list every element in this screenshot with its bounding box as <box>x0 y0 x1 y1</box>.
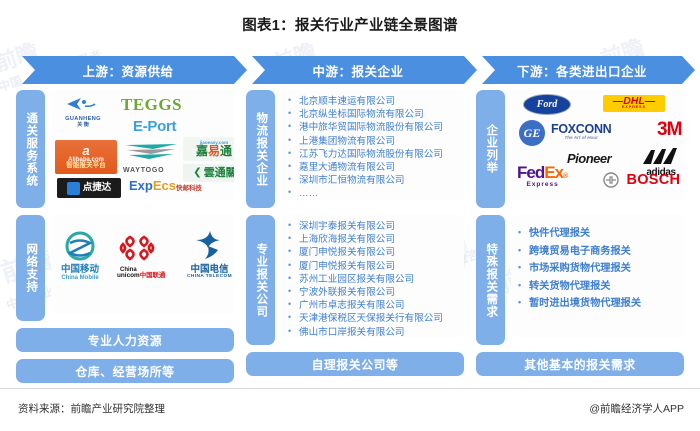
list-item: 佛山市口岸报关有限公司 <box>287 326 462 337</box>
logo-china-mobile: 中国移动 China Mobile <box>61 231 99 281</box>
list-item: 转关货物代理报关 <box>517 278 682 296</box>
list-item: 宁波外联报关有限公司 <box>287 286 462 299</box>
list-item: 厦门申悦报关有限公司 <box>287 246 462 259</box>
downstream-tab-special-needs[interactable]: 特殊报关需求 <box>476 215 505 345</box>
logo-bosch: BOSCH <box>603 172 680 188</box>
midstream-column: 物流报关企业 北京顺丰速运有限公司 北京纵坐标国际物流有限公司 港中旅华贸国际物… <box>246 90 464 383</box>
logo-grid: GUANHENG 关 衡 TEGGS E-Port a Alibaba.com … <box>51 90 234 200</box>
logo-guanheng: GUANHENG 关 衡 <box>63 95 103 128</box>
downstream-bar-other-needs[interactable]: 其他基本的报关需求 <box>476 352 684 376</box>
source-note: 资料来源：前瞻产业研究院整理 <box>18 401 165 416</box>
chain-stage-upstream[interactable]: 上游：资源供给 <box>22 56 234 84</box>
logistics-company-list: 北京顺丰速运有限公司 北京纵坐标国际物流有限公司 港中旅华贸国际物流股份有限公司… <box>281 90 464 200</box>
list-item: 深圳宇泰报关有限公司 <box>287 220 462 233</box>
list-item: 江苏飞力达国际物流股份有限公司 <box>287 148 462 161</box>
midstream-list-area-professional: 深圳宇泰报关有限公司 上海欣海报关有限公司 厦门申悦报关有限公司 厦门申悦报关有… <box>281 215 464 337</box>
list-item: 天津港保税区天保报关行有限公司 <box>287 312 462 325</box>
logo-pioneer: Pioneer <box>567 152 611 165</box>
downstream-logo-area: Ford —DHL— EXPRESS GE FOXCONN The Art of… <box>511 90 684 200</box>
upstream-panel-network-support: 网络支持 中国移动 China Mobile <box>16 215 234 321</box>
adidas-stripes-icon <box>639 148 683 164</box>
list-item: 快件代理报关 <box>517 225 682 243</box>
downstream-panel-special-needs: 特殊报关需求 快件代理报关 跨境贸易电子商务报关 市场采购货物代理报关 转关货物… <box>476 215 684 345</box>
app-watermark: @前瞻经济学人APP <box>589 401 684 416</box>
logo-grid: Ford —DHL— EXPRESS GE FOXCONN The Art of… <box>511 90 684 200</box>
midstream-list-area-logistics: 北京顺丰速运有限公司 北京纵坐标国际物流有限公司 港中旅华贸国际物流股份有限公司… <box>281 90 464 200</box>
value-chain-header: 上游：资源供给 中游：报关企业 下游：各类进出口企业 <box>0 56 700 84</box>
special-needs-list: 快件代理报关 跨境贸易电子商务报关 市场采购货物代理报关 转关货物代理报关 暂时… <box>511 215 684 313</box>
downstream-column: 企业列举 Ford —DHL— EXPRESS GE FOXCONN The A… <box>476 90 684 383</box>
logo-grid: 中国移动 China Mobile China <box>51 215 234 313</box>
logo-dianjieda: 点捷达 <box>57 178 121 198</box>
logo-eport: E-Port <box>133 119 176 134</box>
list-item: 港中旅华贸国际物流股份有限公司 <box>287 121 462 134</box>
downstream-panel-enterprises: 企业列举 Ford —DHL— EXPRESS GE FOXCONN The A… <box>476 90 684 208</box>
logo-dhl: —DHL— EXPRESS <box>603 95 665 112</box>
list-item: 厦门申悦报关有限公司 <box>287 260 462 273</box>
logo-waytogo: WAYTOGO <box>123 142 183 174</box>
downstream-tab-enterprises[interactable]: 企业列举 <box>476 90 505 208</box>
logo-jiayitong: jiaoeasy.com 嘉易通 <box>183 137 234 161</box>
midstream-tab-logistics[interactable]: 物流报关企业 <box>246 90 275 208</box>
list-item: 广州市卓志报关有限公司 <box>287 299 462 312</box>
midstream-bar-self-managed[interactable]: 自理报关公司等 <box>246 352 464 376</box>
list-item: 嘉里大通物流有限公司 <box>287 161 462 174</box>
footer-divider <box>0 388 700 389</box>
logo-3m: 3M <box>657 120 681 139</box>
list-item: …… <box>287 187 462 200</box>
logo-expecs: ExpEcs快邮科技 <box>129 178 202 194</box>
logo-foxconn: FOXCONN The Art of Hour <box>551 123 611 140</box>
list-item: 苏州工业园区报关有限公司 <box>287 273 462 286</box>
upstream-logo-area-network-support: 中国移动 China Mobile China <box>51 215 234 313</box>
midstream-panel-professional: 专业报关公司 深圳宇泰报关有限公司 上海欣海报关有限公司 厦门申悦报关有限公司 … <box>246 215 464 345</box>
chain-stage-downstream[interactable]: 下游：各类进出口企业 <box>482 56 682 84</box>
china-unicom-mark-icon <box>117 233 157 263</box>
list-item: 跨境贸易电子商务报关 <box>517 243 682 261</box>
midstream-panel-logistics: 物流报关企业 北京顺丰速运有限公司 北京纵坐标国际物流有限公司 港中旅华贸国际物… <box>246 90 464 208</box>
logo-teggs: TEGGS <box>121 96 182 113</box>
logo-china-unicom: China unicom中国联通 <box>117 233 165 279</box>
list-item: 上海欣海报关有限公司 <box>287 233 462 246</box>
upstream-column: 通关服务系统 GUANHENG 关 衡 TEGGS E-Port <box>16 90 234 390</box>
guanheng-mark-icon <box>63 95 103 113</box>
upstream-logo-area-customs-service: GUANHENG 关 衡 TEGGS E-Port a Alibaba.com … <box>51 90 234 200</box>
upstream-tab-network-support[interactable]: 网络支持 <box>16 215 45 321</box>
upstream-bar-human-resources[interactable]: 专业人力资源 <box>16 328 234 352</box>
upstream-tab-customs-service[interactable]: 通关服务系统 <box>16 90 45 208</box>
logo-ge: GE <box>519 120 545 146</box>
bosch-mark-icon <box>603 172 619 188</box>
waytogo-mark-icon <box>123 142 183 162</box>
chain-stage-midstream[interactable]: 中游：报关企业 <box>252 56 464 84</box>
logo-alibaba-smart-customs: a Alibaba.com 智能报关平台 <box>55 140 117 174</box>
list-item: 上港集团物流有限公司 <box>287 135 462 148</box>
logo-fedex: FedEx® Express <box>517 164 568 189</box>
list-item: 北京顺丰速运有限公司 <box>287 95 462 108</box>
china-mobile-mark-icon <box>61 231 99 261</box>
midstream-tab-professional[interactable]: 专业报关公司 <box>246 215 275 345</box>
page-title: 图表1：报关行业产业链全景图谱 <box>0 14 700 35</box>
downstream-list-area: 快件代理报关 跨境贸易电子商务报关 市场采购货物代理报关 转关货物代理报关 暂时… <box>511 215 684 337</box>
list-item: 市场采购货物代理报关 <box>517 260 682 278</box>
upstream-bar-warehouse[interactable]: 仓库、经营场所等 <box>16 359 234 383</box>
list-item: 北京纵坐标国际物流有限公司 <box>287 108 462 121</box>
china-telecom-mark-icon <box>188 229 232 261</box>
upstream-panel-customs-service: 通关服务系统 GUANHENG 关 衡 TEGGS E-Port <box>16 90 234 208</box>
list-item: 深圳市汇恒物流有限公司 <box>287 174 462 187</box>
logo-china-telecom: 中国电信 CHINA TELECOM <box>187 229 232 279</box>
logo-ford: Ford <box>523 94 571 115</box>
professional-company-list: 深圳宇泰报关有限公司 上海欣海报关有限公司 厦门申悦报关有限公司 厦门申悦报关有… <box>281 215 464 337</box>
list-item: 暂时进出境货物代理报关 <box>517 295 682 313</box>
